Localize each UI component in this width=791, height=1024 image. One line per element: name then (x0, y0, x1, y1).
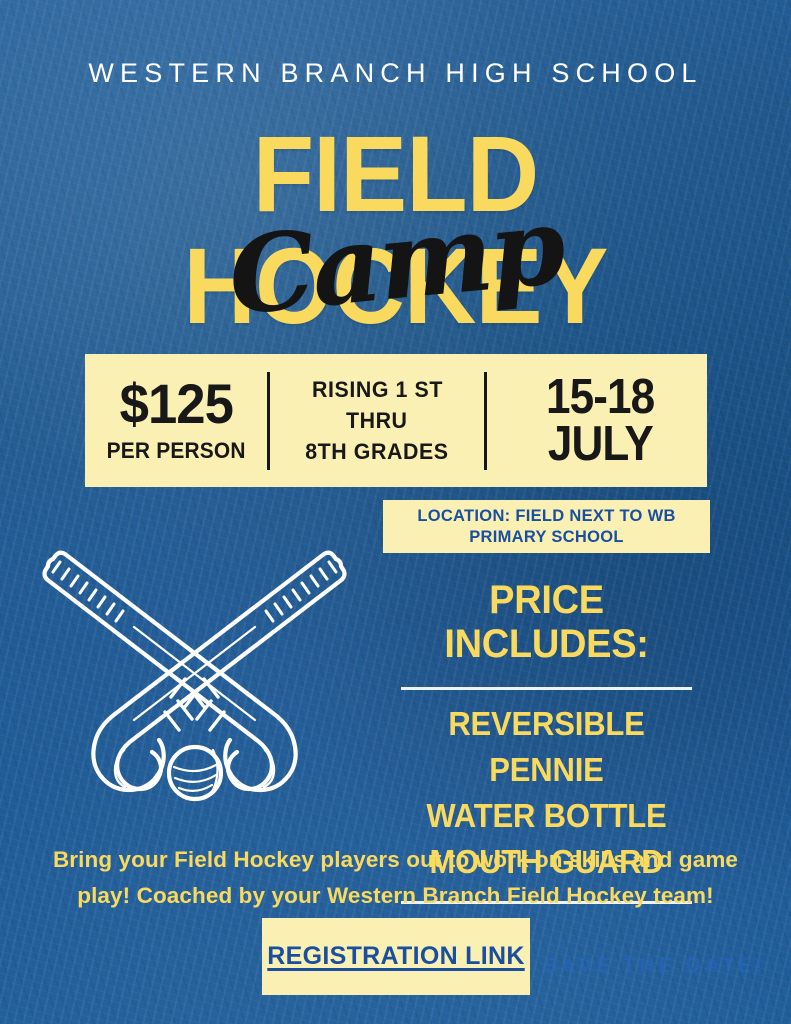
title-block: FIELD HOCKEY Camp (0, 118, 791, 333)
field-hockey-sticks-icon (22, 545, 367, 830)
dates-day-range: 15-18 (546, 374, 654, 421)
list-item: WATER BOTTLE (393, 793, 700, 839)
price-includes-heading: PRICE INCLUDES: (391, 578, 702, 666)
info-cell-price: $125 PER PERSON (85, 354, 267, 487)
info-bar: $125 PER PERSON RISING 1 ST THRU 8TH GRA… (85, 354, 707, 487)
save-the-date-text: SAVE THE DATE! (544, 955, 767, 978)
location-text: LOCATION: FIELD NEXT TO WB PRIMARY SCHOO… (393, 506, 700, 548)
registration-link-label[interactable]: REGISTRATION LINK (267, 942, 524, 971)
location-banner: LOCATION: FIELD NEXT TO WB PRIMARY SCHOO… (383, 500, 710, 553)
list-item: REVERSIBLE PENNIE (393, 701, 700, 793)
price-amount: $125 (119, 377, 232, 431)
grades-line-2: THRU (346, 405, 408, 436)
dates-month: JULY (547, 421, 652, 468)
grades-line-1: RISING 1 ST (312, 374, 443, 405)
info-cell-dates: 15-18 JULY (487, 354, 713, 487)
registration-link-button[interactable]: REGISTRATION LINK (262, 918, 530, 995)
poster-canvas: WESTERN BRANCH HIGH SCHOOL FIELD HOCKEY … (0, 0, 791, 1024)
info-cell-grades: RISING 1 ST THRU 8TH GRADES (270, 354, 484, 487)
school-name: WESTERN BRANCH HIGH SCHOOL (0, 58, 791, 89)
price-per-person-label: PER PERSON (107, 438, 246, 464)
grades-line-3: 8TH GRADES (305, 436, 448, 467)
description-text: Bring your Field Hockey players out to w… (26, 842, 765, 914)
